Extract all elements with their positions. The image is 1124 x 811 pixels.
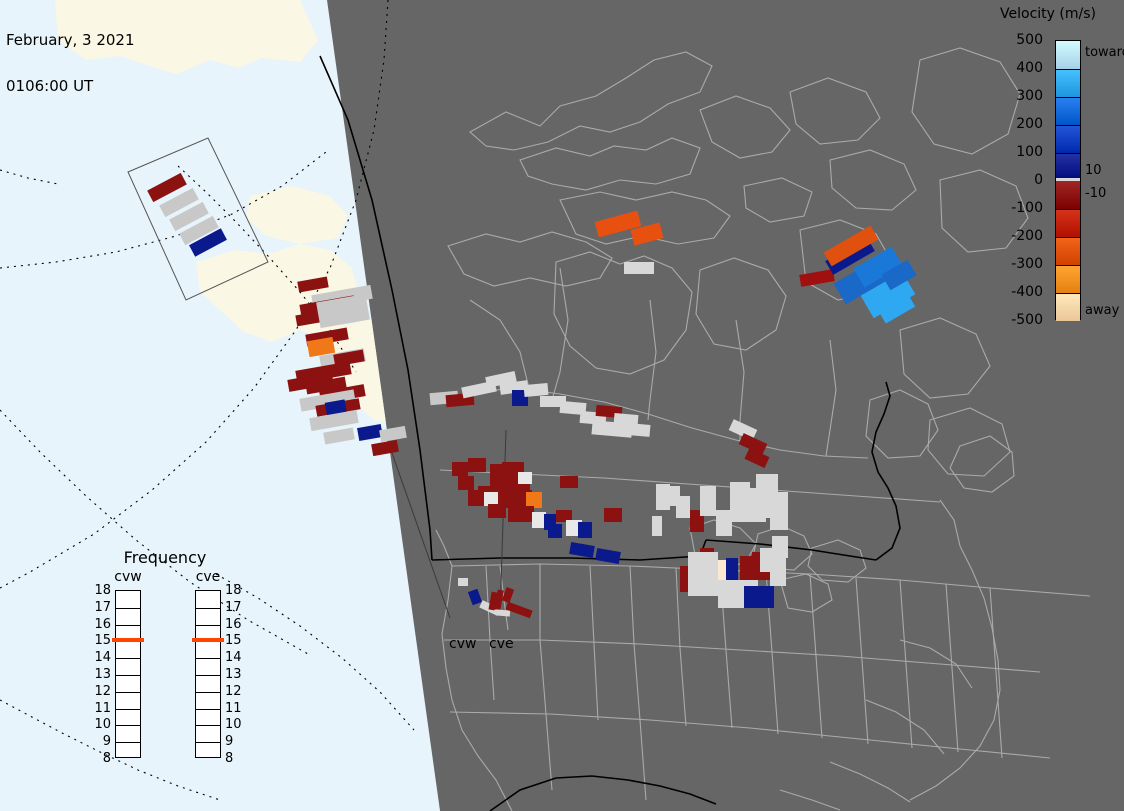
frequency-cell-divider <box>196 692 220 693</box>
frequency-cell-divider <box>116 692 140 693</box>
velocity-cell[interactable] <box>496 609 510 616</box>
colorbar-tick-label: -100 <box>975 201 1049 215</box>
timestamp-date: February, 3 2021 <box>6 32 135 48</box>
colorbar-tick-label: 100 <box>975 145 1049 159</box>
velocity-cell[interactable] <box>548 524 562 538</box>
velocity-cell[interactable] <box>508 506 534 522</box>
colorbar-tick-label: 0 <box>975 173 1049 187</box>
colorbar-tick-label: -400 <box>975 285 1049 299</box>
frequency-cell-divider <box>196 658 220 659</box>
frequency-cell-divider <box>196 608 220 609</box>
frequency-cell-divider <box>116 658 140 659</box>
frequency-column-cve[interactable]: cve 18171615141312111098 <box>173 545 243 795</box>
velocity-cell[interactable] <box>762 586 774 608</box>
superdarn-map-view: February, 3 2021 0106:00 UT Velocity (m/… <box>0 0 1124 811</box>
timestamp-time: 0106:00 UT <box>6 78 135 94</box>
frequency-cell-divider <box>196 742 220 743</box>
frequency-tick-label: 18 <box>225 584 249 597</box>
frequency-cell-divider <box>116 709 140 710</box>
velocity-cell[interactable] <box>524 383 549 397</box>
colorbar-tick-label: -500 <box>975 313 1049 327</box>
colorbar-tick-label: 400 <box>975 61 1049 75</box>
colorbar-band <box>1056 125 1080 153</box>
colorbar-tick-label: 300 <box>975 89 1049 103</box>
frequency-legend: Frequency cvw 18171615141312111098 cve 1… <box>85 545 255 795</box>
velocity-cell[interactable] <box>468 458 486 472</box>
frequency-tick-label: 14 <box>87 651 111 664</box>
frequency-marker <box>112 638 144 642</box>
frequency-tick-label: 16 <box>87 618 111 631</box>
velocity-cell[interactable] <box>532 512 546 528</box>
frequency-cell-divider <box>116 675 140 676</box>
colorbar-band-divider <box>1056 265 1080 266</box>
frequency-tick-label: 11 <box>87 702 111 715</box>
velocity-cell[interactable] <box>688 552 718 596</box>
velocity-cell[interactable] <box>578 522 592 538</box>
colorbar-tick-label: -300 <box>975 257 1049 271</box>
frequency-cell-divider <box>116 625 140 626</box>
colorbar-tick-labels: 5004003002001000-100-200-300-400-500 <box>975 0 1049 345</box>
frequency-tick-label: 8 <box>87 752 111 765</box>
colorbar-band-divider <box>1056 153 1080 154</box>
frequency-tick-label: 17 <box>87 601 111 614</box>
frequency-tick-label: 15 <box>87 634 111 647</box>
colorbar-band <box>1056 265 1080 293</box>
velocity-colorbar: Velocity (m/s) 5004003002001000-100-200-… <box>975 0 1124 345</box>
colorbar-gradient[interactable] <box>1055 40 1081 320</box>
colorbar-tick-label: 200 <box>975 117 1049 131</box>
frequency-cell-divider <box>196 625 220 626</box>
frequency-tick-label: 12 <box>225 685 249 698</box>
colorbar-band <box>1056 209 1080 237</box>
colorbar-center-low-label: -10 <box>1085 187 1106 200</box>
velocity-cell[interactable] <box>770 492 788 530</box>
colorbar-away-label: away <box>1085 304 1119 317</box>
colorbar-band <box>1056 293 1080 321</box>
colorbar-band <box>1056 69 1080 97</box>
frequency-tick-label: 14 <box>225 651 249 664</box>
velocity-cell[interactable] <box>652 516 662 536</box>
frequency-cell-divider <box>196 725 220 726</box>
frequency-tick-label: 15 <box>225 634 249 647</box>
frequency-tick-label: 9 <box>87 735 111 748</box>
frequency-tick-label: 13 <box>87 668 111 681</box>
frequency-tick-label: 9 <box>225 735 249 748</box>
velocity-cell[interactable] <box>770 556 786 586</box>
velocity-cell[interactable] <box>518 472 532 484</box>
frequency-cell-divider <box>116 725 140 726</box>
velocity-cell[interactable] <box>488 504 506 518</box>
colorbar-band-divider <box>1056 125 1080 126</box>
frequency-cell-divider <box>116 608 140 609</box>
velocity-cell[interactable] <box>716 510 732 536</box>
frequency-tick-label: 11 <box>225 702 249 715</box>
colorbar-side-labels: toward 10 -10 away <box>1085 0 1124 345</box>
frequency-tick-label: 16 <box>225 618 249 631</box>
colorbar-band-divider <box>1056 293 1080 294</box>
colorbar-center-high-label: 10 <box>1085 164 1102 177</box>
frequency-cell-divider <box>196 675 220 676</box>
colorbar-band <box>1056 41 1080 69</box>
colorbar-band-divider <box>1056 209 1080 210</box>
colorbar-band <box>1056 237 1080 265</box>
frequency-tick-label: 8 <box>225 752 249 765</box>
velocity-cell[interactable] <box>458 578 468 586</box>
timestamp-block: February, 3 2021 0106:00 UT <box>6 2 135 124</box>
colorbar-tick-label: -200 <box>975 229 1049 243</box>
radar-site-label-cve[interactable]: cve <box>489 636 514 652</box>
velocity-cell[interactable] <box>526 492 542 508</box>
velocity-cell[interactable] <box>740 556 752 580</box>
velocity-cell[interactable] <box>458 476 474 490</box>
colorbar-band-divider <box>1056 97 1080 98</box>
colorbar-toward-label: toward <box>1085 46 1124 59</box>
frequency-bar[interactable] <box>195 590 221 758</box>
velocity-cell[interactable] <box>628 423 651 437</box>
frequency-tick-label: 10 <box>87 718 111 731</box>
colorbar-band <box>1056 181 1080 209</box>
velocity-cell[interactable] <box>730 482 750 522</box>
velocity-cell[interactable] <box>468 490 486 506</box>
velocity-cell[interactable] <box>624 262 654 274</box>
frequency-tick-label: 12 <box>87 685 111 698</box>
frequency-tick-label: 10 <box>225 718 249 731</box>
frequency-tick-label: 13 <box>225 668 249 681</box>
velocity-cell[interactable] <box>700 486 716 516</box>
frequency-column-cvw[interactable]: cvw 18171615141312111098 <box>93 545 163 795</box>
velocity-cell[interactable] <box>676 496 690 518</box>
frequency-cell-divider <box>116 742 140 743</box>
velocity-cell[interactable] <box>484 492 498 506</box>
velocity-cell[interactable] <box>744 586 762 608</box>
velocity-cell[interactable] <box>604 508 622 522</box>
colorbar-band <box>1056 97 1080 125</box>
colorbar-band-divider <box>1056 237 1080 238</box>
colorbar-tick-label: 500 <box>975 33 1049 47</box>
frequency-cell-divider <box>196 709 220 710</box>
frequency-tick-label: 17 <box>225 601 249 614</box>
frequency-bar[interactable] <box>115 590 141 758</box>
velocity-cell[interactable] <box>772 536 788 558</box>
radar-site-label-cvw[interactable]: cvw <box>449 636 476 652</box>
velocity-cell[interactable] <box>560 476 578 488</box>
frequency-tick-label: 18 <box>87 584 111 597</box>
frequency-marker <box>192 638 224 642</box>
colorbar-band-divider <box>1056 69 1080 70</box>
velocity-cell[interactable] <box>452 462 468 476</box>
